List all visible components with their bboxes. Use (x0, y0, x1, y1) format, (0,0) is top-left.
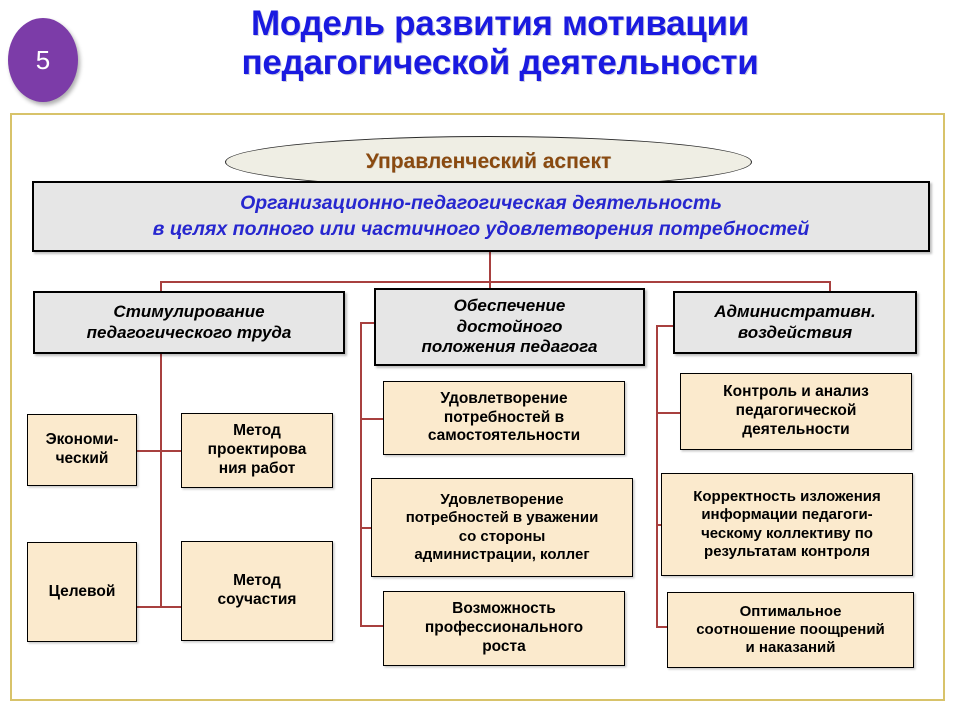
leaf-professionalnyy-rost-line-2: профессионального (425, 619, 583, 638)
connector-administrativnoe-top (656, 325, 674, 327)
slide-number-text: 5 (36, 47, 50, 73)
connector-stimulirovanie-row2 (137, 606, 182, 608)
leaf-box-tselevoy: Целевой (27, 542, 137, 642)
branch-stimulirovanie-line-2: педагогического труда (87, 323, 292, 344)
leaf-metod-souchastiya-line-1: Метод (218, 572, 297, 591)
branch-box-obespechenie-text: Обеспечение достойного положения педагог… (422, 296, 598, 358)
leaf-tselevoy-line-1: Целевой (49, 583, 116, 602)
branch-obespechenie-line-2: достойного (422, 317, 598, 338)
branch-box-administrativnoe: Административн. воздействия (673, 291, 917, 354)
leaf-box-metod-proektirovaniya: Метод проектирова ния работ (181, 413, 333, 488)
leaf-ekonomicheskiy-line-2: ческий (46, 450, 119, 469)
leaf-korrektnost-line-2: информации педагоги- (693, 506, 881, 524)
leaf-box-metod-souchastiya: Метод соучастия (181, 541, 333, 641)
leaf-uvazhenie-line-1: Удовлетворение (406, 491, 599, 509)
leaf-box-ekonomicheskiy-text: Экономи- ческий (46, 431, 119, 469)
connector-obespechenie-row3 (360, 625, 384, 627)
leaf-korrektnost-line-3: ческому коллективу по (693, 525, 881, 543)
leaf-korrektnost-line-4: результатам контроля (693, 543, 881, 561)
root-box-line-2: в целях полного или частичного удовлетво… (153, 217, 810, 243)
connector-administrativnoe-spine (656, 325, 658, 627)
page-title: Модель развития мотивации педагогической… (55, 4, 945, 82)
leaf-box-samostoyatelnost: Удовлетворение потребностей в самостояте… (383, 381, 625, 455)
leaf-kontrol-analiz-line-3: деятельности (723, 421, 869, 440)
leaf-metod-proektirovaniya-line-3: ния работ (208, 460, 307, 479)
branch-box-obespechenie: Обеспечение достойного положения педагог… (374, 288, 645, 366)
leaf-ekonomicheskiy-line-1: Экономи- (46, 431, 119, 450)
leaf-samostoyatelnost-line-3: самостоятельности (428, 427, 580, 446)
leaf-uvazhenie-line-3: со стороны (406, 528, 599, 546)
leaf-metod-proektirovaniya-line-1: Метод (208, 422, 307, 441)
root-box-line-1: Организационно-педагогическая деятельнос… (153, 191, 810, 217)
leaf-uvazhenie-line-2: потребностей в уважении (406, 509, 599, 527)
leaf-box-korrektnost: Корректность изложения информации педаго… (661, 473, 913, 576)
branch-obespechenie-line-1: Обеспечение (422, 296, 598, 317)
leaf-professionalnyy-rost-line-1: Возможность (425, 600, 583, 619)
page-title-line-2: педагогической деятельности (55, 43, 945, 82)
leaf-professionalnyy-rost-line-3: роста (425, 638, 583, 657)
branch-stimulirovanie-line-1: Стимулирование (87, 302, 292, 323)
leaf-box-tselevoy-text: Целевой (49, 583, 116, 602)
leaf-box-kontrol-analiz-text: Контроль и анализ педагогической деятель… (723, 383, 869, 440)
leaf-box-ekonomicheskiy: Экономи- ческий (27, 414, 137, 486)
connector-obespechenie-row1 (360, 418, 384, 420)
leaf-metod-souchastiya-line-2: соучастия (218, 591, 297, 610)
connector-obespechenie-top (360, 322, 375, 324)
root-box: Организационно-педагогическая деятельнос… (32, 181, 930, 252)
aspect-ellipse-label: Управленческий аспект (366, 150, 611, 174)
leaf-box-optimalnoe-text: Оптимальное соотношение поощрений и нака… (696, 603, 885, 658)
leaf-optimalnoe-line-3: и наказаний (696, 639, 885, 657)
connector-stimulirovanie-spine (160, 354, 162, 607)
leaf-uvazhenie-line-4: администрации, коллег (406, 546, 599, 564)
leaf-metod-proektirovaniya-line-2: проектирова (208, 441, 307, 460)
connector-root-stem (489, 252, 491, 282)
leaf-box-korrektnost-text: Корректность изложения информации педаго… (693, 488, 881, 561)
branch-obespechenie-line-3: положения педагога (422, 337, 598, 358)
branch-box-stimulirovanie-text: Стимулирование педагогического труда (87, 302, 292, 343)
branch-administrativnoe-line-2: воздействия (714, 323, 876, 344)
leaf-box-optimalnoe: Оптимальное соотношение поощрений и нака… (667, 592, 914, 668)
connector-root-bus (160, 281, 830, 283)
branch-box-administrativnoe-text: Административн. воздействия (714, 302, 876, 343)
branch-administrativnoe-line-1: Административн. (714, 302, 876, 323)
leaf-kontrol-analiz-line-2: педагогической (723, 402, 869, 421)
leaf-box-samostoyatelnost-text: Удовлетворение потребностей в самостояте… (428, 390, 580, 447)
slide-canvas: 5 Модель развития мотивации педагогическ… (0, 0, 960, 720)
connector-obespechenie-spine (360, 322, 362, 625)
root-box-text: Организационно-педагогическая деятельнос… (153, 191, 810, 242)
leaf-samostoyatelnost-line-2: потребностей в (428, 409, 580, 428)
branch-box-stimulirovanie: Стимулирование педагогического труда (33, 291, 345, 354)
leaf-samostoyatelnost-line-1: Удовлетворение (428, 390, 580, 409)
connector-administrativnoe-row1 (656, 412, 681, 414)
leaf-box-uvazhenie-text: Удовлетворение потребностей в уважении с… (406, 491, 599, 564)
leaf-optimalnoe-line-2: соотношение поощрений (696, 621, 885, 639)
leaf-optimalnoe-line-1: Оптимальное (696, 603, 885, 621)
leaf-box-professionalnyy-rost: Возможность профессионального роста (383, 591, 625, 666)
page-title-line-1: Модель развития мотивации (251, 4, 749, 43)
leaf-box-uvazhenie: Удовлетворение потребностей в уважении с… (371, 478, 633, 577)
leaf-korrektnost-line-1: Корректность изложения (693, 488, 881, 506)
connector-stimulirovanie-row1 (137, 450, 182, 452)
leaf-kontrol-analiz-line-1: Контроль и анализ (723, 383, 869, 402)
leaf-box-metod-souchastiya-text: Метод соучастия (218, 572, 297, 610)
leaf-box-professionalnyy-rost-text: Возможность профессионального роста (425, 600, 583, 657)
leaf-box-kontrol-analiz: Контроль и анализ педагогической деятель… (680, 373, 912, 450)
leaf-box-metod-proektirovaniya-text: Метод проектирова ния работ (208, 422, 307, 479)
